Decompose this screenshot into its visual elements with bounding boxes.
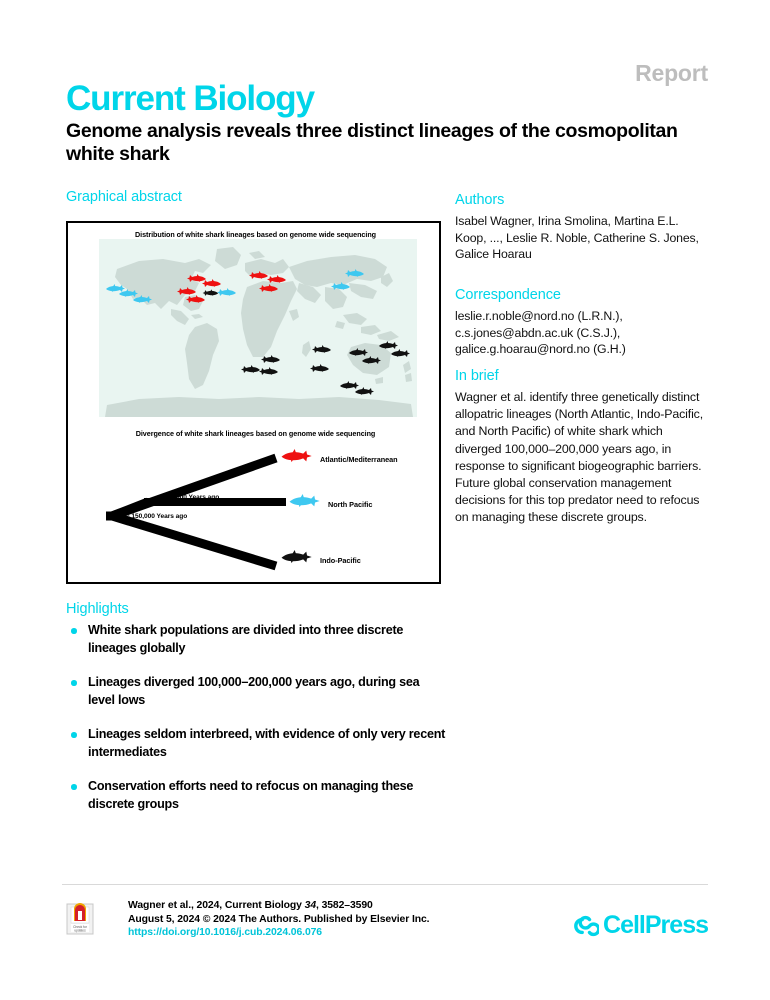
cellpress-logo[interactable]: CellPress — [573, 911, 708, 940]
map-canvas — [99, 239, 417, 417]
page-title: Genome analysis reveals three distinct l… — [66, 120, 686, 166]
list-item: Lineages seldom interbreed, with evidenc… — [66, 726, 446, 761]
journal-cover-page: Report Current Biology Genome analysis r… — [0, 0, 770, 1000]
doi-link[interactable]: https://doi.org/10.1016/j.cub.2024.06.07… — [128, 926, 429, 940]
footer-divider — [62, 884, 708, 885]
tree-tip-shark-north-pacific — [288, 494, 322, 513]
bullet-icon — [71, 784, 77, 790]
shark-marker-indo-pacific — [257, 363, 279, 381]
tree-tip-label-north-pacific: North Pacific — [328, 500, 372, 509]
tree-tip-label-indo-pacific: Indo-Pacific — [320, 556, 361, 565]
bullet-icon — [71, 732, 77, 738]
highlight-text: Lineages diverged 100,000–200,000 years … — [88, 675, 419, 707]
cellpress-wordmark: CellPress — [603, 911, 708, 940]
shark-marker-atlantic-mediterranean — [257, 280, 279, 298]
highlight-text: Conservation efforts need to refocus on … — [88, 779, 413, 811]
shark-marker-indo-pacific — [201, 284, 219, 302]
shark-marker-indo-pacific — [390, 345, 412, 363]
highlight-text: White shark populations are divided into… — [88, 623, 403, 655]
world-map-panel: Distribution of white shark lineages bas… — [72, 227, 439, 423]
article-type-label: Report — [635, 60, 708, 87]
highlights-heading: Highlights — [66, 601, 129, 617]
svg-text:updates: updates — [74, 928, 86, 932]
authors-heading: Authors — [455, 192, 504, 208]
journal-title: Current Biology — [66, 79, 314, 119]
crossmark-badge[interactable]: Check for updates — [66, 903, 94, 935]
authors-list: Isabel Wagner, Irina Smolina, Martina E.… — [455, 213, 705, 263]
list-item: Conservation efforts need to refocus on … — [66, 778, 446, 813]
citation-line-2: August 5, 2024 © 2024 The Authors. Publi… — [128, 913, 429, 927]
divergence-tree-panel: Divergence of white shark lineages based… — [72, 426, 439, 578]
list-item: Lineages diverged 100,000–200,000 years … — [66, 674, 446, 709]
tree-tip-label-atlantic-mediterranean: Atlantic/Mediterranean — [320, 455, 398, 464]
footer-citation: Wagner et al., 2024, Current Biology 34,… — [128, 899, 429, 940]
shark-marker-indo-pacific — [354, 383, 376, 401]
tree-node-age-130k: ≈ 130,000 Years ago — [158, 494, 219, 501]
tree-title: Divergence of white shark lineages based… — [72, 429, 439, 438]
shark-marker-north-pacific — [132, 291, 154, 309]
shark-marker-north-pacific — [329, 278, 351, 296]
in-brief-heading: In brief — [455, 368, 499, 384]
highlight-text: Lineages seldom interbreed, with evidenc… — [88, 727, 445, 759]
bullet-icon — [71, 628, 77, 634]
list-item: White shark populations are divided into… — [66, 622, 446, 657]
map-title: Distribution of white shark lineages bas… — [72, 230, 439, 239]
tree-tip-shark-atlantic-mediterranean — [280, 449, 314, 468]
highlights-list: White shark populations are divided into… — [66, 622, 446, 830]
shark-marker-indo-pacific — [310, 341, 332, 359]
graphical-abstract-figure: Distribution of white shark lineages bas… — [66, 221, 441, 584]
citation-line-1: Wagner et al., 2024, Current Biology 34,… — [128, 899, 429, 913]
correspondence-emails[interactable]: leslie.r.noble@nord.no (L.R.N.), c.s.jon… — [455, 308, 705, 358]
cellpress-mark-icon — [573, 913, 599, 939]
tree-tip-shark-indo-pacific — [280, 550, 314, 569]
in-brief-text: Wagner et al. identify three genetically… — [455, 389, 705, 527]
bullet-icon — [71, 680, 77, 686]
correspondence-heading: Correspondence — [455, 287, 561, 303]
graphical-abstract-heading: Graphical abstract — [66, 189, 182, 205]
shark-marker-indo-pacific — [308, 360, 330, 378]
tree-node-age-150k: ≈ 150,000 Years ago — [126, 513, 187, 520]
